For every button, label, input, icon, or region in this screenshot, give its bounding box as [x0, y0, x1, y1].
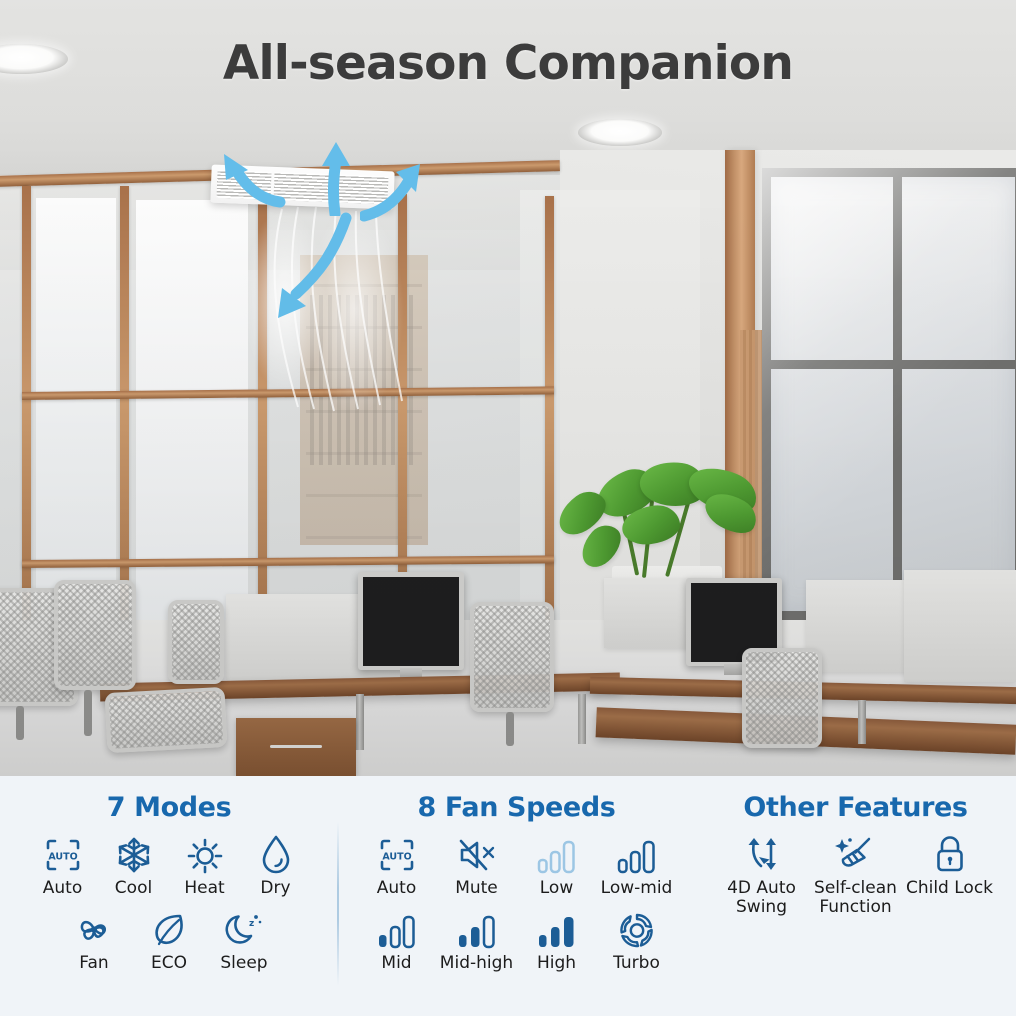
signal-bars-icon — [535, 909, 579, 949]
features-panel: 7 Modes AUTO — [0, 776, 1016, 1016]
column-title-other-features: Other Features — [695, 792, 1016, 823]
feature-label: Low-mid — [601, 879, 673, 898]
padlock-icon — [932, 834, 968, 874]
computer-monitor — [358, 572, 464, 670]
feature-label: 4D Auto Swing — [715, 879, 809, 917]
svg-text:AUTO: AUTO — [382, 852, 411, 863]
window-mullion — [893, 168, 902, 620]
office-chair — [470, 602, 554, 712]
desk-leg — [858, 700, 866, 744]
airflow-arrow-down-icon — [262, 212, 354, 330]
chair-base — [506, 712, 514, 746]
page-title: All-season Companion — [0, 36, 1016, 91]
other-features-row: 4D Auto Swing — [695, 834, 1016, 917]
sun-icon — [186, 834, 224, 874]
broom-sparkle-icon — [833, 834, 879, 874]
speed-auto[interactable]: AUTO Auto — [357, 834, 437, 898]
feature-fan[interactable]: Fan — [57, 909, 132, 973]
feature-label: Fan — [79, 954, 108, 973]
feature-label: Child Lock — [906, 879, 993, 898]
product-feature-infographic: All-season Companion 7 Modes — [0, 0, 1016, 1016]
feature-child-lock[interactable]: Child Lock — [903, 834, 997, 917]
ceiling-downlight-icon — [578, 119, 662, 146]
desk-partition — [904, 570, 1016, 682]
feature-label: Heat — [184, 879, 224, 898]
speaker-mute-icon — [456, 834, 498, 874]
desk-drawer-cabinet — [236, 718, 356, 776]
auto-frame-icon: AUTO — [43, 834, 83, 874]
office-chair — [168, 600, 224, 684]
auto-frame-icon: AUTO — [377, 834, 417, 874]
airflow-arrow-up-left-icon — [218, 150, 288, 212]
column-other-features: Other Features 4D Auto Swing — [695, 776, 1016, 1016]
swing-arrows-icon — [740, 834, 784, 874]
signal-bars-icon — [455, 909, 499, 949]
feature-label: Turbo — [613, 954, 660, 973]
signal-bars-icon — [375, 909, 419, 949]
feature-auto[interactable]: AUTO Auto — [27, 834, 98, 898]
feature-label: ECO — [151, 954, 187, 973]
speed-high[interactable]: High — [517, 909, 597, 973]
leaf-icon — [150, 909, 188, 949]
column-modes: 7 Modes AUTO — [0, 776, 338, 1016]
water-drop-icon — [260, 834, 292, 874]
feature-heat[interactable]: Heat — [169, 834, 240, 898]
speed-low[interactable]: Low — [517, 834, 597, 898]
feature-sleep[interactable]: z Sleep — [207, 909, 282, 973]
speed-mid-high[interactable]: Mid-high — [437, 909, 517, 973]
snowflake-icon — [115, 834, 153, 874]
modes-row-2: Fan ECO z — [0, 909, 338, 973]
feature-label: Mid-high — [440, 954, 513, 973]
fan-speeds-row-2: Mid Mid-high — [338, 909, 695, 973]
feature-cool[interactable]: Cool — [98, 834, 169, 898]
turbo-fan-icon — [617, 909, 657, 949]
office-chair — [54, 580, 136, 690]
signal-bars-icon — [535, 834, 579, 874]
airflow-arrow-up-icon — [310, 140, 364, 216]
feature-label: Sleep — [220, 954, 267, 973]
monitor-stand — [724, 664, 744, 675]
svg-text:z: z — [249, 919, 254, 929]
feature-label: Auto — [377, 879, 416, 898]
signal-bars-icon — [615, 834, 659, 874]
office-chair — [742, 648, 822, 748]
feature-label: Dry — [260, 879, 290, 898]
speed-turbo[interactable]: Turbo — [597, 909, 677, 973]
hero-photo: All-season Companion — [0, 0, 1016, 776]
feature-eco[interactable]: ECO — [132, 909, 207, 973]
feature-label: Cool — [115, 879, 152, 898]
feature-label: High — [537, 954, 576, 973]
moon-zzz-icon: z — [224, 909, 264, 949]
chair-base — [84, 690, 92, 736]
feature-label: Mid — [381, 954, 411, 973]
desk-leg — [356, 694, 364, 750]
desk-leg — [578, 694, 586, 744]
feature-dry[interactable]: Dry — [240, 834, 311, 898]
column-title-fan-speeds: 8 Fan Speeds — [338, 792, 695, 823]
window-mullion — [762, 360, 1016, 369]
column-fan-speeds: 8 Fan Speeds AUTO — [338, 776, 695, 1016]
speed-mute[interactable]: Mute — [437, 834, 517, 898]
svg-text:AUTO: AUTO — [48, 852, 77, 863]
speed-low-mid[interactable]: Low-mid — [597, 834, 677, 898]
chair-base — [16, 706, 24, 740]
office-window — [762, 168, 1016, 620]
fan-blade-icon — [75, 909, 113, 949]
feature-4d-auto-swing[interactable]: 4D Auto Swing — [715, 834, 809, 917]
feature-label: Low — [540, 879, 573, 898]
speed-mid[interactable]: Mid — [357, 909, 437, 973]
fan-speeds-row-1: AUTO Auto Mu — [338, 834, 695, 898]
feature-label: Self-clean Function — [809, 879, 903, 917]
feature-label: Auto — [43, 879, 82, 898]
airflow-arrow-up-right-icon — [360, 158, 424, 222]
feature-label: Mute — [455, 879, 498, 898]
feature-self-clean[interactable]: Self-clean Function — [809, 834, 903, 917]
desk-partition — [806, 580, 918, 672]
column-title-modes: 7 Modes — [0, 792, 338, 823]
modes-row-1: AUTO Auto — [0, 834, 338, 898]
office-chair — [105, 687, 228, 753]
